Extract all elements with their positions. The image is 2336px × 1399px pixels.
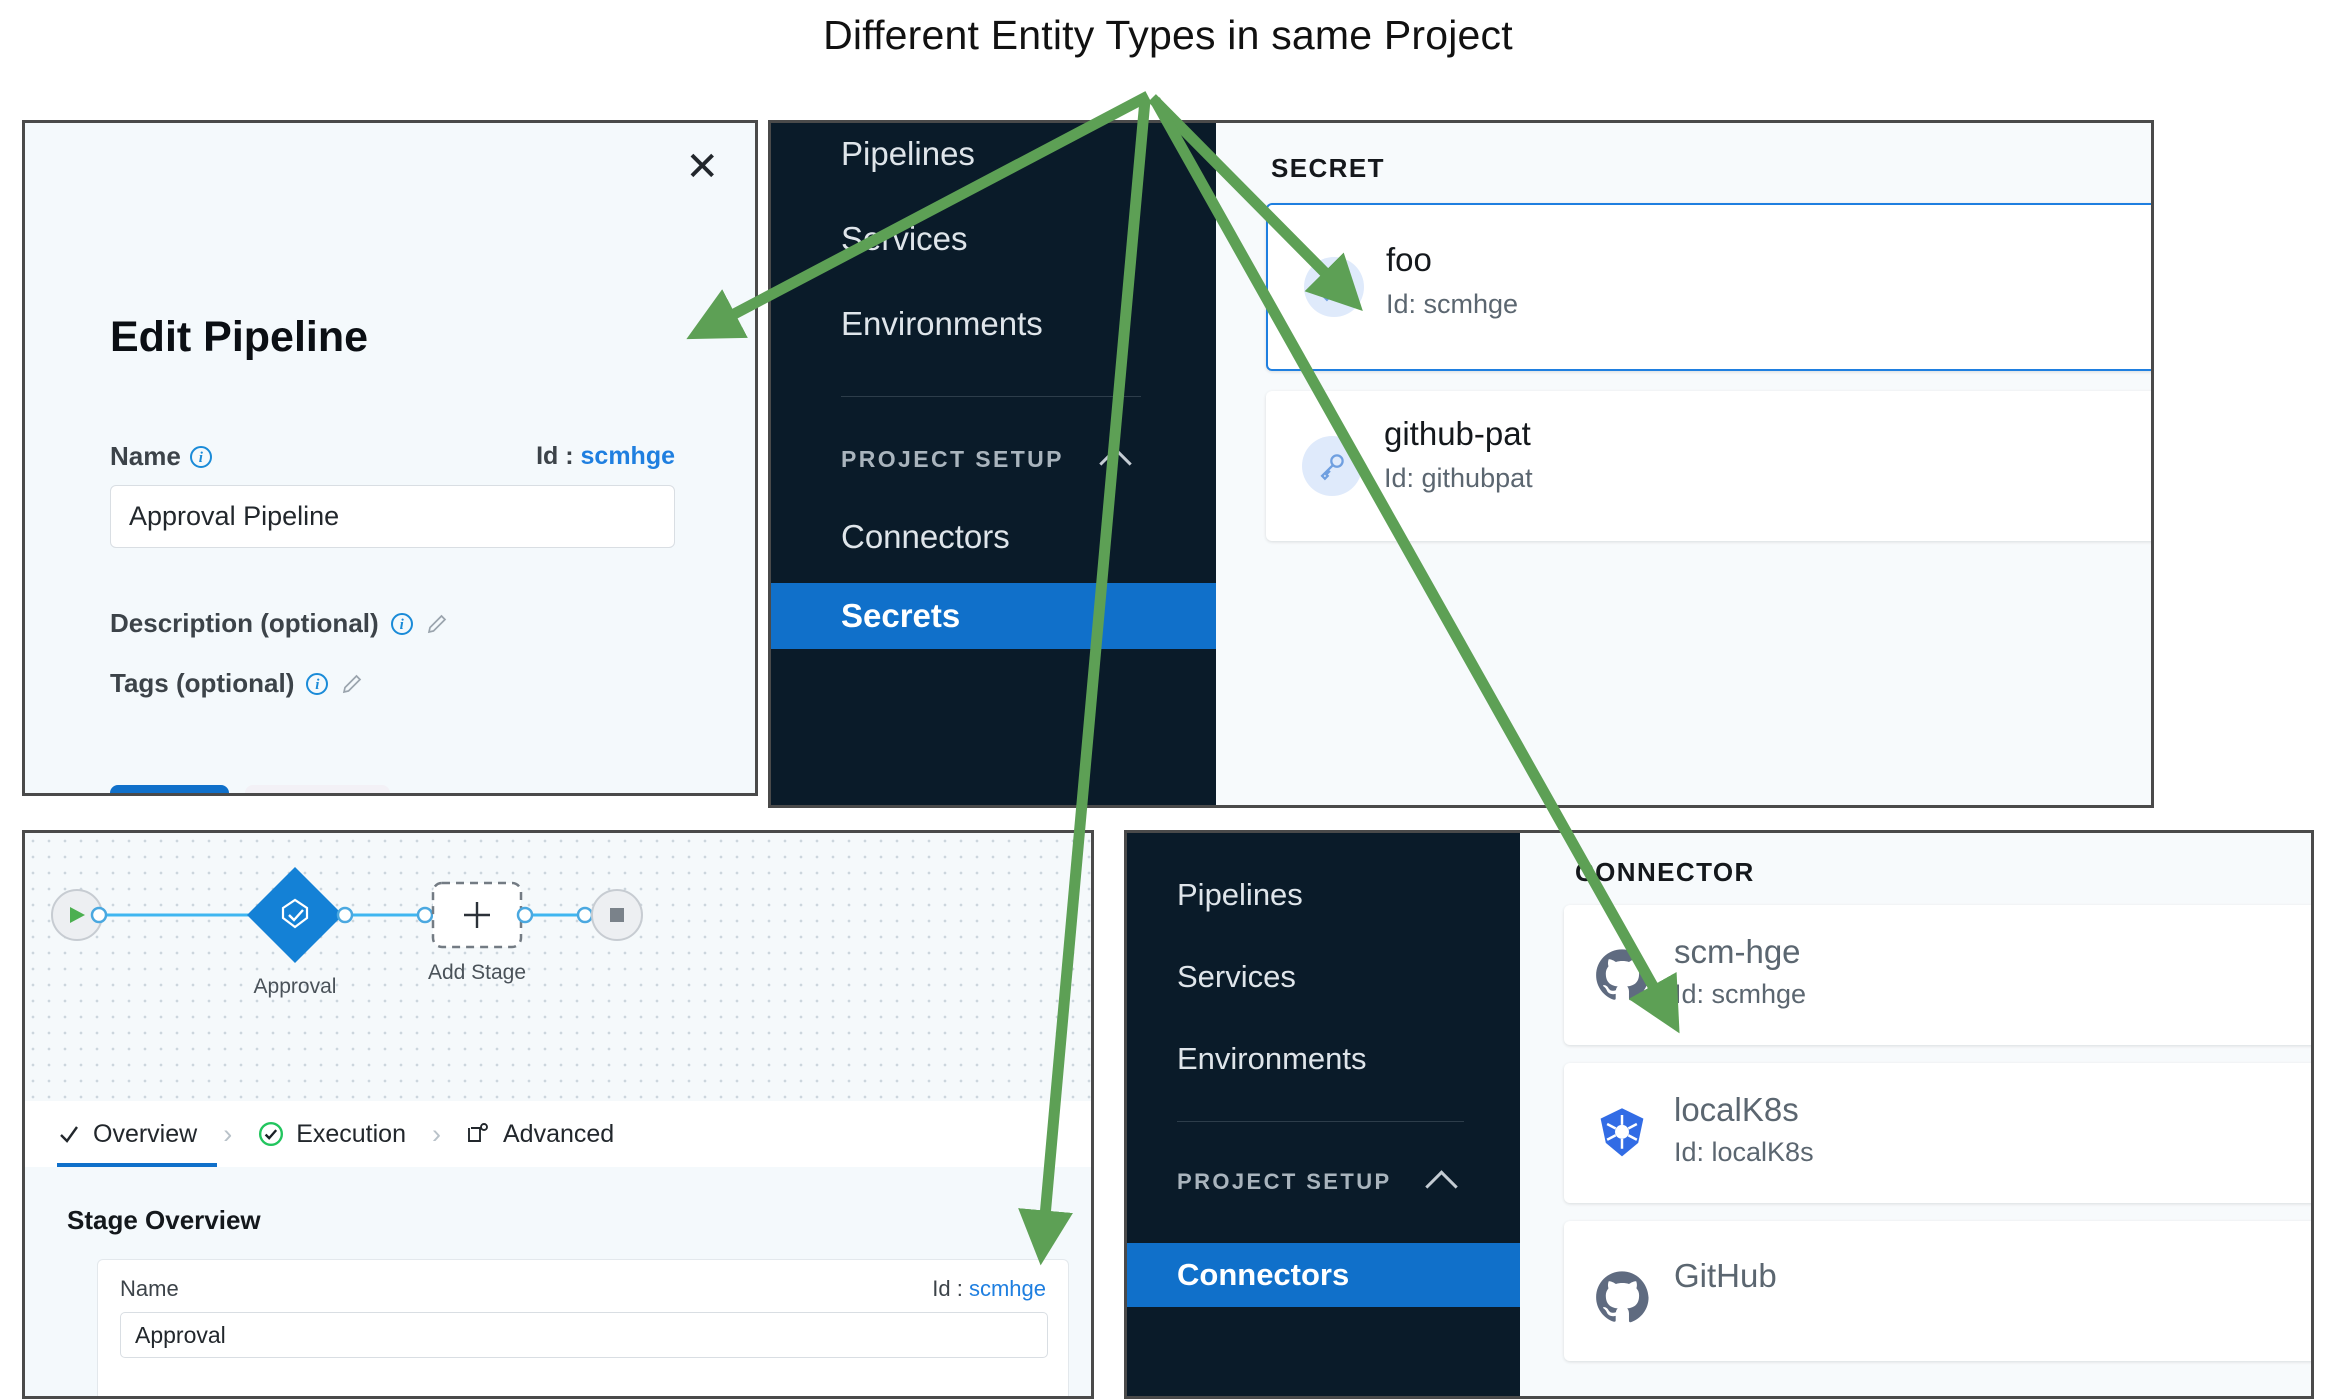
stage-overview-form: Stage Overview Name Id : scmhge Approval bbox=[25, 1167, 1094, 1399]
secrets-list-header: SECRET bbox=[1271, 153, 1385, 184]
modal-title: Edit Pipeline bbox=[110, 313, 368, 362]
list-item[interactable]: GitHub bbox=[1564, 1221, 2314, 1361]
save-button[interactable]: Save bbox=[110, 785, 229, 796]
end-icon bbox=[610, 908, 624, 922]
sidebar-item-environments[interactable]: Environments bbox=[841, 305, 1043, 343]
sidebar-item-services[interactable]: Services bbox=[841, 220, 968, 258]
info-icon[interactable]: i bbox=[190, 446, 212, 468]
list-item-name: scm-hge bbox=[1674, 933, 1801, 971]
pipeline-studio-panel: Approval Add Stage Overview › Execution … bbox=[22, 830, 1094, 1399]
secrets-sidebar: Pipelines Services Environments PROJECT … bbox=[771, 123, 1216, 805]
check-icon bbox=[57, 1122, 81, 1146]
list-item[interactable]: github-pat Id: githubpat bbox=[1266, 391, 2154, 541]
key-icon bbox=[1302, 436, 1362, 496]
kubernetes-icon bbox=[1592, 1103, 1652, 1163]
list-item[interactable]: scm-hge Id: scmhge bbox=[1564, 905, 2314, 1045]
chevron-up-icon[interactable] bbox=[1099, 447, 1132, 480]
stage-overview-card: Name Id : scmhge Approval bbox=[97, 1259, 1069, 1399]
list-item-name: foo bbox=[1386, 241, 1432, 279]
tab-advanced[interactable]: Advanced bbox=[467, 1101, 614, 1167]
tab-label: Execution bbox=[296, 1120, 406, 1149]
github-icon bbox=[1592, 1267, 1652, 1327]
github-icon bbox=[1592, 945, 1652, 1005]
chevron-up-icon[interactable] bbox=[1425, 1170, 1458, 1203]
connectors-sidebar: Pipelines Services Environments PROJECT … bbox=[1127, 833, 1520, 1396]
close-icon[interactable]: ✕ bbox=[685, 147, 719, 187]
list-item[interactable]: foo Id: scmhge bbox=[1266, 203, 2154, 371]
id-value: scmhge bbox=[581, 442, 675, 470]
stage-name-input[interactable]: Approval bbox=[120, 1312, 1048, 1358]
sidebar-item-pipelines[interactable]: Pipelines bbox=[841, 135, 975, 173]
edit-pencil-icon[interactable] bbox=[425, 612, 449, 636]
connectors-list-area: CONNECTOR scm-hge Id: scmhge bbox=[1520, 833, 2311, 1396]
id-prefix: Id : bbox=[932, 1276, 969, 1301]
sidebar-divider bbox=[1177, 1121, 1464, 1122]
secrets-panel: Pipelines Services Environments PROJECT … bbox=[768, 120, 2154, 808]
name-label-group: Name i bbox=[110, 441, 212, 472]
id-value: scmhge bbox=[969, 1276, 1046, 1301]
sidebar-section-project-setup[interactable]: PROJECT SETUP bbox=[841, 446, 1087, 473]
sidebar-item-services[interactable]: Services bbox=[1177, 959, 1296, 995]
sidebar-item-connectors[interactable]: Connectors bbox=[841, 518, 1010, 556]
list-item-id: Id: localK8s bbox=[1674, 1137, 1814, 1168]
key-icon bbox=[1304, 257, 1364, 317]
sidebar-item-secrets[interactable]: Secrets bbox=[771, 583, 1216, 649]
list-item[interactable]: localK8s Id: localK8s bbox=[1564, 1063, 2314, 1203]
description-row: Description (optional) i bbox=[110, 608, 449, 639]
secrets-list-area: SECRET foo Id: scmhge github-pat Id: gi bbox=[1216, 123, 2151, 805]
sidebar-item-connectors[interactable]: Connectors bbox=[1127, 1243, 1520, 1307]
page-root: Different Entity Types in same Project ✕… bbox=[0, 0, 2336, 1399]
page-title: Different Entity Types in same Project bbox=[0, 12, 2336, 59]
list-item-name: github-pat bbox=[1384, 415, 1531, 453]
sidebar-section-label: PROJECT SETUP bbox=[1177, 1169, 1392, 1195]
tab-overview[interactable]: Overview bbox=[57, 1101, 197, 1167]
pipeline-name-input[interactable]: Approval Pipeline bbox=[110, 485, 675, 548]
id-prefix: Id : bbox=[536, 442, 580, 470]
edit-pencil-icon[interactable] bbox=[340, 672, 364, 696]
tab-separator: › bbox=[223, 1119, 232, 1150]
info-icon[interactable]: i bbox=[391, 613, 413, 635]
pipeline-graph bbox=[25, 833, 1094, 1129]
tab-label: Advanced bbox=[503, 1120, 614, 1149]
list-item-id: Id: githubpat bbox=[1384, 463, 1533, 494]
add-stage-label: Add Stage bbox=[407, 961, 547, 985]
sidebar-item-label: Secrets bbox=[841, 597, 960, 635]
cancel-button[interactable]: Cancel bbox=[245, 785, 390, 796]
check-circle-icon bbox=[258, 1121, 284, 1147]
tab-separator: › bbox=[432, 1119, 441, 1150]
sidebar-divider bbox=[841, 396, 1141, 397]
stage-name-label: Name bbox=[120, 1276, 179, 1302]
list-item-name: localK8s bbox=[1674, 1091, 1799, 1129]
list-item-id: Id: scmhge bbox=[1386, 289, 1518, 320]
advanced-icon bbox=[467, 1122, 491, 1146]
name-field-row: Name i Id : scmhge bbox=[110, 441, 675, 472]
edit-pipeline-panel: ✕ Edit Pipeline Name i Id : scmhge Appro… bbox=[22, 120, 758, 796]
sidebar-item-environments[interactable]: Environments bbox=[1177, 1041, 1367, 1077]
approval-stage-node bbox=[247, 867, 343, 963]
sidebar-item-pipelines[interactable]: Pipelines bbox=[1177, 877, 1303, 913]
stage-tabbar: Overview › Execution › Advanced bbox=[25, 1101, 1094, 1168]
list-item-id: Id: scmhge bbox=[1674, 979, 1806, 1010]
approval-stage-label: Approval bbox=[225, 975, 365, 999]
tab-label: Overview bbox=[93, 1120, 197, 1149]
tab-execution[interactable]: Execution bbox=[258, 1101, 406, 1167]
pipeline-id: Id : scmhge bbox=[536, 442, 675, 471]
tags-row: Tags (optional) i bbox=[110, 668, 364, 699]
description-label: Description (optional) bbox=[110, 608, 379, 639]
sidebar-section-project-setup[interactable]: PROJECT SETUP bbox=[1177, 1169, 1415, 1195]
name-label: Name bbox=[110, 441, 181, 472]
info-icon[interactable]: i bbox=[306, 673, 328, 695]
connectors-list-header: CONNECTOR bbox=[1575, 857, 1755, 888]
modal-actions: Save Cancel bbox=[110, 785, 390, 796]
stage-overview-title: Stage Overview bbox=[67, 1205, 261, 1236]
list-item-name: GitHub bbox=[1674, 1257, 1777, 1295]
sidebar-item-label: Connectors bbox=[1177, 1257, 1349, 1293]
pipeline-canvas[interactable]: Approval Add Stage bbox=[25, 833, 1091, 1129]
stage-id: Id : scmhge bbox=[932, 1276, 1046, 1302]
connectors-panel: Pipelines Services Environments PROJECT … bbox=[1124, 830, 2314, 1399]
sidebar-section-label: PROJECT SETUP bbox=[841, 446, 1064, 473]
tags-label: Tags (optional) bbox=[110, 668, 294, 699]
